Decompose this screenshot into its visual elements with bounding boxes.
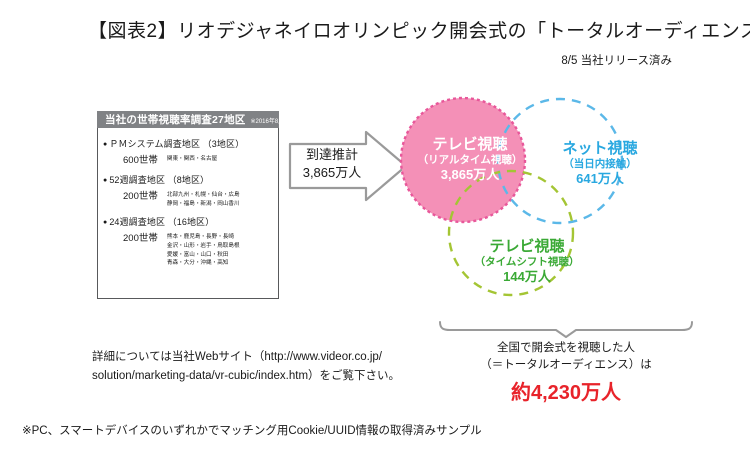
region-line: 青森・大分・沖縄・高知 [167, 259, 240, 268]
region-line: 関東・関西・名古屋 [167, 156, 217, 162]
survey-group-title-text: 24週調査地区 （16地区） [109, 217, 214, 227]
total-line2: （＝トータルオーディエンス）は [438, 357, 694, 374]
bullet-icon: ● [103, 141, 107, 148]
survey-group-detail: 200世帯 熊本・鹿児島・長野・長崎 金沢・山形・岩手・鳥取島根 愛媛・富山・山… [103, 230, 273, 268]
venn-timeshift-sub: （タイムシフト視聴） [462, 256, 592, 269]
infographic-page: 【図表2】リオデジャネイロオリンピック開会式の「トータルオーディエンス」 8/5… [0, 0, 750, 462]
survey-panel-body: ●ＰＭシステム調査地区 （3地区） 600世帯 関東・関西・名古屋 ●52週調査… [97, 128, 279, 299]
venn-tv-realtime-value: 3,865万人 [404, 167, 536, 183]
survey-group: ●52週調査地区 （8地区） 200世帯 北部九州・札幌・仙台・広島 静岡・福島… [103, 173, 273, 208]
venn-net-value: 641万人 [540, 171, 660, 187]
total-line1: 全国で開会式を視聴した人 [438, 340, 694, 357]
survey-group: ●24週調査地区 （16地区） 200世帯 熊本・鹿児島・長野・長崎 金沢・山形… [103, 215, 273, 268]
survey-group-detail: 600世帯 関東・関西・名古屋 [103, 152, 273, 166]
venn-tv-realtime-main: テレビ視聴 [404, 136, 536, 154]
region-list: 関東・関西・名古屋 [167, 152, 217, 164]
venn-net-sub: （当日内接触） [540, 158, 660, 171]
total-audience-value: 約4,230万人 [438, 376, 694, 405]
survey-group-detail: 200世帯 北部九州・札幌・仙台・広島 静岡・福島・新潟・岡山香川 [103, 188, 273, 208]
page-title: 【図表2】リオデジャネイロオリンピック開会式の「トータルオーディエンス」 [88, 16, 750, 43]
estimate-label-line2: 3,865万人 [296, 164, 368, 182]
survey-group-title: ●52週調査地区 （8地区） [103, 173, 273, 186]
survey-group-title-text: 52週調査地区 （8地区） [109, 175, 209, 185]
footer-note: ※PC、スマートデバイスのいずれかでマッチング用Cookie/UUID情報の取得… [22, 422, 482, 438]
venn-label-timeshift: テレビ視聴 （タイムシフト視聴） 144万人 [462, 238, 592, 284]
region-line: 北部九州・札幌・仙台・広島 [167, 191, 240, 200]
bullet-icon: ● [103, 219, 107, 226]
household-count: 200世帯 [123, 230, 158, 244]
survey-panel-header: 当社の世帯視聴率調査27地区 ※2016年8月時点 [97, 111, 279, 128]
total-audience-block: 全国で開会式を視聴した人 （＝トータルオーディエンス）は 約4,230万人 [438, 340, 694, 405]
venn-label-tv-realtime: テレビ視聴 （リアルタイム視聴） 3,865万人 [404, 136, 536, 182]
region-line: 金沢・山形・岩手・鳥取島根 [167, 242, 240, 251]
estimate-arrow-label: 到達推計 3,865万人 [296, 146, 368, 181]
survey-panel-date-note: ※2016年8月時点 [250, 114, 296, 125]
website-note: 詳細については当社Webサイト（http://www.videor.co.jp/… [92, 348, 432, 386]
estimate-label-line1: 到達推計 [296, 146, 368, 164]
bullet-icon: ● [103, 177, 107, 184]
survey-group: ●ＰＭシステム調査地区 （3地区） 600世帯 関東・関西・名古屋 [103, 137, 273, 166]
venn-timeshift-main: テレビ視聴 [462, 238, 592, 256]
venn-label-net: ネット視聴 （当日内接触） 641万人 [540, 140, 660, 186]
venn-timeshift-value: 144万人 [462, 269, 592, 285]
household-count: 200世帯 [123, 188, 158, 202]
household-count: 600世帯 [123, 152, 158, 166]
total-bracket [438, 320, 694, 338]
survey-group-title: ●24週調査地区 （16地区） [103, 215, 273, 228]
survey-group-title: ●ＰＭシステム調査地区 （3地区） [103, 137, 273, 150]
venn-net-main: ネット視聴 [540, 140, 660, 158]
region-line: 静岡・福島・新潟・岡山香川 [167, 200, 240, 209]
survey-group-title-text: ＰＭシステム調査地区 （3地区） [109, 139, 244, 149]
region-line: 熊本・鹿児島・長野・長崎 [167, 233, 240, 242]
region-list: 熊本・鹿児島・長野・長崎 金沢・山形・岩手・鳥取島根 愛媛・富山・山口・秋田 青… [167, 230, 240, 268]
survey-panel-title: 当社の世帯視聴率調査27地区 [105, 112, 245, 127]
region-list: 北部九州・札幌・仙台・広島 静岡・福島・新潟・岡山香川 [167, 188, 240, 208]
region-line: 愛媛・富山・山口・秋田 [167, 251, 240, 260]
release-note: 8/5 当社リリース済み [561, 52, 672, 68]
venn-tv-realtime-sub: （リアルタイム視聴） [404, 154, 536, 167]
